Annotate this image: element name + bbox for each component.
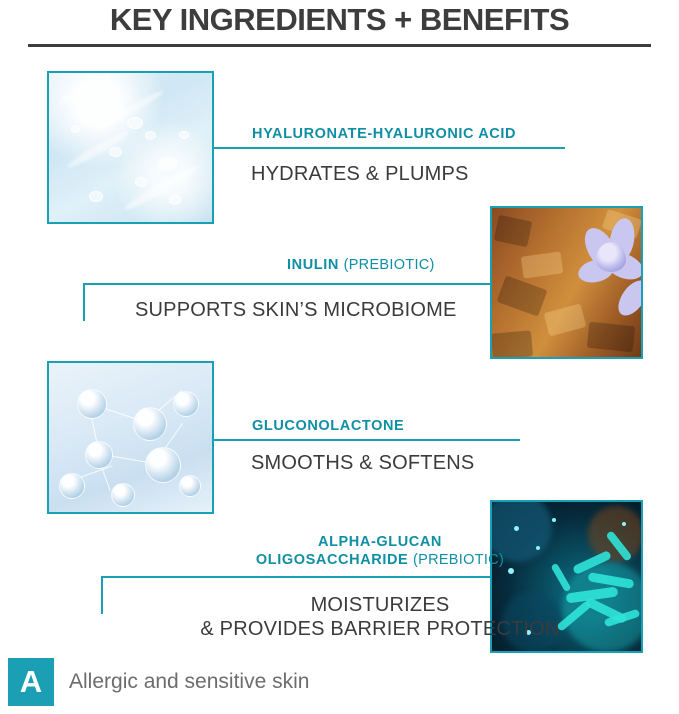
gel-bubble xyxy=(135,177,147,187)
molecule-node xyxy=(59,473,85,499)
molecule-node xyxy=(111,483,135,507)
ingredient-name-alpha-glucan-line1: ALPHA-GLUCAN xyxy=(190,534,570,550)
gel-bubble xyxy=(169,195,181,205)
root-chip xyxy=(497,275,548,316)
ingredient-qualifier-inulin: (PREBIOTIC) xyxy=(344,257,435,273)
flower-petal xyxy=(613,275,643,320)
hyaluronic-acid-gel-photo xyxy=(47,71,214,224)
root-chip xyxy=(587,322,635,353)
title-divider xyxy=(28,44,651,47)
gel-streak xyxy=(122,162,201,213)
gluconolactone-molecule-photo xyxy=(47,361,214,514)
connector-line-3 xyxy=(214,439,520,441)
connector-line-2 xyxy=(83,283,490,285)
gel-streak xyxy=(57,71,114,107)
inulin-chicory-root-photo xyxy=(490,206,643,359)
connector-line-1b xyxy=(252,147,565,149)
ingredient-name-alpha-glucan-line2: OLIGOSACCHARIDE (PREBIOTIC) xyxy=(190,552,570,568)
gel-bubble xyxy=(179,131,189,139)
ingredient-name-hyaluronate: HYALURONATE-HYALURONIC ACID xyxy=(252,126,582,142)
page-title: KEY INGREDIENTS + BENEFITS xyxy=(0,2,679,38)
bokeh-glow xyxy=(588,506,643,562)
root-chip xyxy=(544,303,587,336)
molecule-node xyxy=(85,441,113,469)
allergy-badge: A xyxy=(8,658,54,706)
molecule-node xyxy=(77,389,107,419)
ingredient-benefit-alpha-glucan-line2: & PROVIDES BARRIER PROTECTION xyxy=(190,618,570,641)
root-chip xyxy=(494,215,533,248)
molecule-node xyxy=(173,391,199,417)
ingredient-benefit-hyaluronate: HYDRATES & PLUMPS xyxy=(251,163,469,186)
molecule-node xyxy=(133,407,167,441)
ingredient-benefit-inulin: SUPPORTS SKIN’S MICROBIOME xyxy=(135,299,457,322)
particle-dot xyxy=(622,522,626,526)
gel-bubble xyxy=(109,147,122,157)
molecule-node xyxy=(179,475,201,497)
connector-line-1a xyxy=(214,147,252,149)
particle-dot xyxy=(508,568,514,574)
footer-caption: Allergic and sensitive skin xyxy=(69,670,309,694)
ingredient-name-gluconolactone: GLUCONOLACTONE xyxy=(252,418,404,434)
connector-line-4 xyxy=(101,576,490,578)
gel-bubble xyxy=(89,191,103,202)
gel-bubble xyxy=(145,131,156,140)
ingredient-benefit-alpha-glucan-line1: MOISTURIZES xyxy=(190,594,570,617)
ingredient-name-inulin-text: INULIN xyxy=(287,257,339,273)
gel-bubble xyxy=(159,157,177,170)
ingredient-benefit-gluconolactone: SMOOTHS & SOFTENS xyxy=(251,452,474,475)
gel-bubble xyxy=(71,125,80,133)
ingredient-name-inulin: INULIN (PREBIOTIC) xyxy=(287,257,587,273)
connector-line-2-vertical xyxy=(83,283,85,321)
chicory-flower xyxy=(596,242,626,272)
particle-dot xyxy=(552,518,556,522)
particle-dot xyxy=(514,526,519,531)
ingredient-qualifier-alpha-glucan: (PREBIOTIC) xyxy=(413,552,504,568)
connector-line-4-vertical xyxy=(101,576,103,614)
root-chip xyxy=(491,330,533,359)
gel-bubble xyxy=(127,117,143,129)
ingredient-name-oligosaccharide: OLIGOSACCHARIDE xyxy=(256,552,408,568)
molecule-node xyxy=(145,447,181,483)
